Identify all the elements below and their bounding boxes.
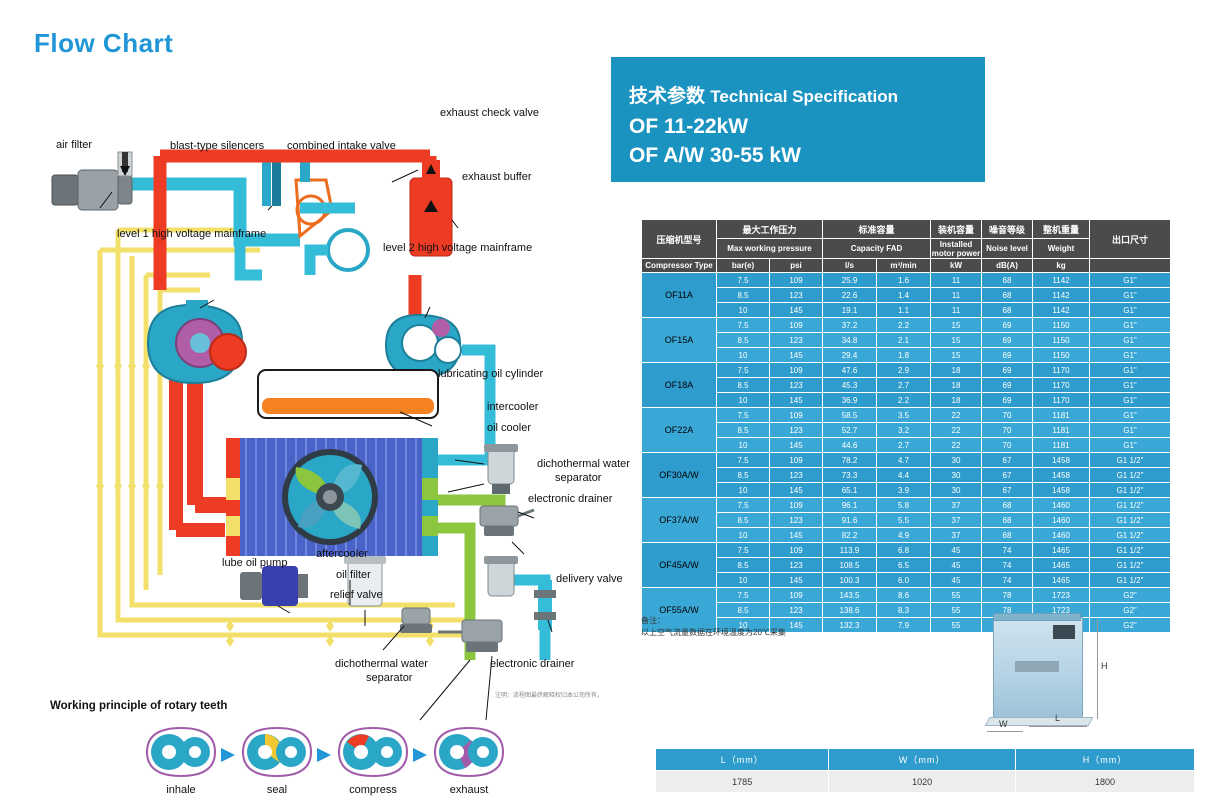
cell-value: 45.3 <box>823 378 877 393</box>
dim-w-line <box>987 731 1023 732</box>
cell-value: 7.5 <box>717 318 770 333</box>
intake-branch <box>240 242 262 275</box>
dimension-table: L（mm） W（mm） H（mm） 1785 1020 1800 <box>655 748 1195 793</box>
cell-value: 73.3 <box>823 468 877 483</box>
header-model-cn: 压缩机型号 <box>642 220 717 259</box>
cell-value: 2.7 <box>877 378 931 393</box>
cell-value: 11 <box>931 303 982 318</box>
cell-value: 145 <box>770 573 823 588</box>
cell-value: 1.4 <box>877 288 931 303</box>
cell-value: 2.1 <box>877 333 931 348</box>
cell-value: 68 <box>982 288 1033 303</box>
cell-value: 15 <box>931 333 982 348</box>
cell-value: 1170 <box>1033 363 1090 378</box>
cell-value: 132.3 <box>823 618 877 633</box>
label-level-2-mainframe: level 2 high voltage mainframe <box>383 242 532 254</box>
cell-value: 1458 <box>1033 483 1090 498</box>
rotary-label-inhale: inhale <box>145 784 217 796</box>
level-1-mainframe <box>148 300 246 383</box>
unit-outlet <box>1090 259 1171 273</box>
cell-value: 69 <box>982 318 1033 333</box>
cell-value: 55 <box>931 618 982 633</box>
cell-value: 123 <box>770 288 823 303</box>
cell-value: 11 <box>931 273 982 288</box>
cell-value: 25.9 <box>823 273 877 288</box>
cell-value: 3.2 <box>877 423 931 438</box>
relief-valve-unit <box>400 608 432 633</box>
cell-value: 1150 <box>1033 333 1090 348</box>
cell-value: G1" <box>1090 303 1171 318</box>
dimension-table-body: 1785 1020 1800 <box>656 771 1195 793</box>
cell-value: 145 <box>770 483 823 498</box>
page-title: Flow Chart <box>34 28 173 59</box>
dim-value-l: 1785 <box>656 771 829 793</box>
table-row: OF11A7.510925.91.611681142G1" <box>642 273 1171 288</box>
cell-model: OF30A/W <box>642 453 717 498</box>
air-filter-unit <box>52 152 132 210</box>
cell-value: 138.6 <box>823 603 877 618</box>
label-relief-valve: relief valve <box>330 589 383 601</box>
unit-kw: kW <box>931 259 982 273</box>
cell-value: 7.5 <box>717 453 770 468</box>
cell-value: 2.2 <box>877 318 931 333</box>
dim-header-h: H（mm） <box>1015 749 1194 771</box>
cell-value: 7.5 <box>717 498 770 513</box>
cell-value: 15 <box>931 318 982 333</box>
cell-value: G1 1/2" <box>1090 468 1171 483</box>
cell-value: 65.1 <box>823 483 877 498</box>
cell-value: 7.5 <box>717 543 770 558</box>
cell-value: 1170 <box>1033 378 1090 393</box>
rotary-label-seal: seal <box>241 784 313 796</box>
table-row: 1014529.41.815691150G1" <box>642 348 1171 363</box>
label-oil-cooler: oil cooler <box>487 422 531 434</box>
cell-value: 1723 <box>1033 588 1090 603</box>
specification-table-head: 压缩机型号 最大工作压力 标准容量 装机容量 噪音等级 整机重量 出口尺寸 Ma… <box>642 220 1171 273</box>
cell-value: 1465 <box>1033 573 1090 588</box>
cell-value: 7.5 <box>717 588 770 603</box>
table-row: OF22A7.510958.53.522701181G1" <box>642 408 1171 423</box>
cell-value: 8.5 <box>717 288 770 303</box>
dichothermal-water-separator-2-unit <box>484 556 518 596</box>
cell-value: 123 <box>770 558 823 573</box>
label-dichothermal-water-separator-1-line2: separator <box>555 472 601 484</box>
cell-value: 1465 <box>1033 543 1090 558</box>
cell-value: 70 <box>982 408 1033 423</box>
cell-value: 7.5 <box>717 408 770 423</box>
cell-value: 36.9 <box>823 393 877 408</box>
table-row: 8.512373.34.430671458G1 1/2" <box>642 468 1171 483</box>
header-pressure-en: Max working pressure <box>717 239 823 259</box>
cell-value: 74 <box>982 573 1033 588</box>
electronic-drainer-1-unit <box>480 506 534 536</box>
cell-value: G1 1/2" <box>1090 573 1171 588</box>
table-row: OF30A/W7.510978.24.730671458G1 1/2" <box>642 453 1171 468</box>
combined-intake-valve-unit <box>292 160 368 275</box>
label-delivery-valve: delivery valve <box>556 573 623 585</box>
cell-value: 109 <box>770 273 823 288</box>
cell-value: 67 <box>982 468 1033 483</box>
cell-value: 123 <box>770 423 823 438</box>
cell-value: 1150 <box>1033 318 1090 333</box>
cell-value: 1460 <box>1033 513 1090 528</box>
spec-header-block: 技术参数 Technical Specification OF 11-22kW … <box>611 57 985 182</box>
table-row: 8.5123108.56.545741465G1 1/2" <box>642 558 1171 573</box>
dim-header-l: L（mm） <box>656 749 829 771</box>
cell-value: 67 <box>982 453 1033 468</box>
dim-h-line <box>1097 619 1098 719</box>
working-principle-title: Working principle of rotary teeth <box>50 700 227 712</box>
cell-value: 100.3 <box>823 573 877 588</box>
cell-value: 18 <box>931 378 982 393</box>
cell-value: 45 <box>931 558 982 573</box>
cell-value: 68 <box>982 303 1033 318</box>
cell-value: 30 <box>931 468 982 483</box>
header-pressure-cn: 最大工作压力 <box>717 220 823 239</box>
cell-model: OF45A/W <box>642 543 717 588</box>
cell-value: 96.1 <box>823 498 877 513</box>
cell-value: 55 <box>931 603 982 618</box>
specification-table-body: OF11A7.510925.91.611681142G1"8.512322.61… <box>642 273 1171 633</box>
cell-value: 4.9 <box>877 528 931 543</box>
machine-illustration: H W L <box>985 613 1110 736</box>
header-noise-cn: 噪音等级 <box>982 220 1033 239</box>
cell-value: 58.5 <box>823 408 877 423</box>
label-oil-filter: oil filter <box>336 569 371 581</box>
cell-value: 69 <box>982 363 1033 378</box>
cell-value: 5.5 <box>877 513 931 528</box>
cell-model: OF18A <box>642 363 717 408</box>
cell-value: 44.6 <box>823 438 877 453</box>
cell-value: 10 <box>717 438 770 453</box>
cell-value: 10 <box>717 393 770 408</box>
spec-header-line2: OF 11-22kW <box>629 115 967 139</box>
cell-value: 2.2 <box>877 393 931 408</box>
cell-value: G1 1/2" <box>1090 513 1171 528</box>
cell-value: 55 <box>931 588 982 603</box>
cell-value: 68 <box>982 498 1033 513</box>
cell-value: 37 <box>931 513 982 528</box>
table-row: OF15A7.510937.22.215691150G1" <box>642 318 1171 333</box>
cell-value: 69 <box>982 393 1033 408</box>
label-level-1-mainframe: level 1 high voltage mainframe <box>117 228 266 240</box>
cell-value: 10 <box>717 573 770 588</box>
cell-value: 109 <box>770 453 823 468</box>
cell-value: 18 <box>931 393 982 408</box>
header-capacity-cn: 标准容量 <box>823 220 931 239</box>
flow-diagram: air filter blast-type silencers combined… <box>0 60 611 740</box>
cell-value: 6.8 <box>877 543 931 558</box>
unit-psi: psi <box>770 259 823 273</box>
label-blast-type-silencers: blast-type silencers <box>170 140 264 152</box>
cell-value: 22 <box>931 438 982 453</box>
cell-value: 22 <box>931 408 982 423</box>
cell-value: 37.2 <box>823 318 877 333</box>
table-row: 8.512322.61.411681142G1" <box>642 288 1171 303</box>
cell-value: 18 <box>931 363 982 378</box>
cell-value: 1170 <box>1033 393 1090 408</box>
cell-value: 70 <box>982 423 1033 438</box>
table-row: 8.512391.65.537681460G1 1/2" <box>642 513 1171 528</box>
cell-value: G1 1/2" <box>1090 483 1171 498</box>
cell-model: OF22A <box>642 408 717 453</box>
dichothermal-water-separator-1-unit <box>484 444 518 494</box>
cell-value: 1.6 <box>877 273 931 288</box>
cell-value: 37 <box>931 498 982 513</box>
cell-value: 67 <box>982 483 1033 498</box>
cell-value: 22.6 <box>823 288 877 303</box>
cell-value: 109 <box>770 363 823 378</box>
cell-value: 109 <box>770 543 823 558</box>
dimension-table-head: L（mm） W（mm） H（mm） <box>656 749 1195 771</box>
header-model-en: Compressor Type <box>642 259 717 273</box>
table-row: 1014536.92.218691170G1" <box>642 393 1171 408</box>
cell-value: 1458 <box>1033 468 1090 483</box>
cell-value: 91.6 <box>823 513 877 528</box>
cell-value: 113.9 <box>823 543 877 558</box>
cell-value: G1" <box>1090 438 1171 453</box>
cell-value: 145 <box>770 528 823 543</box>
cell-value: G1 1/2" <box>1090 498 1171 513</box>
dim-w-label: W <box>999 719 1008 729</box>
cell-value: 34.8 <box>823 333 877 348</box>
cell-value: 145 <box>770 393 823 408</box>
header-capacity-en: Capacity FAD <box>823 239 931 259</box>
cell-value: 8.5 <box>717 513 770 528</box>
label-exhaust-buffer: exhaust buffer <box>462 171 532 183</box>
cell-value: 8.5 <box>717 468 770 483</box>
cell-value: 123 <box>770 468 823 483</box>
cell-value: 1.8 <box>877 348 931 363</box>
specification-table: 压缩机型号 最大工作压力 标准容量 装机容量 噪音等级 整机重量 出口尺寸 Ma… <box>641 219 1171 633</box>
machine-top <box>993 613 1081 621</box>
cell-value: G1" <box>1090 363 1171 378</box>
dim-header-w: W（mm） <box>829 749 1016 771</box>
rotary-stage-arrows <box>145 726 515 778</box>
cell-value: 19.1 <box>823 303 877 318</box>
header-power-cn: 装机容量 <box>931 220 982 239</box>
cell-value: 15 <box>931 348 982 363</box>
cell-value: 69 <box>982 333 1033 348</box>
cell-value: 108.5 <box>823 558 877 573</box>
cell-value: 74 <box>982 558 1033 573</box>
cell-value: 2.9 <box>877 363 931 378</box>
cell-value: 10 <box>717 483 770 498</box>
cell-value: 109 <box>770 498 823 513</box>
cell-value: 1460 <box>1033 528 1090 543</box>
cell-value: 1465 <box>1033 558 1090 573</box>
cell-value: G1" <box>1090 288 1171 303</box>
cell-value: 143.5 <box>823 588 877 603</box>
cell-value: G1" <box>1090 318 1171 333</box>
table-row: 8.512345.32.718691170G1" <box>642 378 1171 393</box>
label-dichothermal-water-separator-2-line2: separator <box>366 672 412 684</box>
table-row: 1014565.13.930671458G1 1/2" <box>642 483 1171 498</box>
cell-value: 1458 <box>1033 453 1090 468</box>
cell-value: 1142 <box>1033 303 1090 318</box>
rotary-label-exhaust: exhaust <box>433 784 505 796</box>
label-electronic-drainer-1: electronic drainer <box>528 493 612 505</box>
dim-value-w: 1020 <box>829 771 1016 793</box>
cell-value: 5.8 <box>877 498 931 513</box>
cell-value: G2" <box>1090 588 1171 603</box>
cell-value: 70 <box>982 438 1033 453</box>
cell-value: 68 <box>982 528 1033 543</box>
cell-value: G1" <box>1090 393 1171 408</box>
unit-ls: l/s <box>823 259 877 273</box>
cooler-block <box>226 438 438 556</box>
unit-kg: kg <box>1033 259 1090 273</box>
table-row: 1014582.24.937681460G1 1/2" <box>642 528 1171 543</box>
machine-logo <box>1015 661 1059 672</box>
cell-value: G1" <box>1090 423 1171 438</box>
cell-value: G1" <box>1090 348 1171 363</box>
cell-value: 10 <box>717 303 770 318</box>
table-row: OF37A/W7.510996.15.837681460G1 1/2" <box>642 498 1171 513</box>
cell-value: 8.5 <box>717 558 770 573</box>
cell-value: 30 <box>931 453 982 468</box>
header-weight-en: Weight <box>1033 239 1090 259</box>
page-root: Flow Chart <box>0 0 1211 806</box>
label-dichothermal-water-separator-2-line1: dichothermal water <box>335 658 428 670</box>
cell-value: 68 <box>982 513 1033 528</box>
label-dichothermal-water-separator-1-line1: dichothermal water <box>537 458 630 470</box>
cell-value: 8.3 <box>877 603 931 618</box>
dim-h-label: H <box>1101 661 1108 671</box>
header-row-cn: 压缩机型号 最大工作压力 标准容量 装机容量 噪音等级 整机重量 出口尺寸 <box>642 220 1171 239</box>
cell-value: 11 <box>931 288 982 303</box>
cell-value: 3.9 <box>877 483 931 498</box>
exhaust-check-valve-unit <box>422 160 440 180</box>
unit-m3: m³/min <box>877 259 931 273</box>
cell-value: 123 <box>770 333 823 348</box>
cell-value: G1" <box>1090 378 1171 393</box>
unit-db: dB(A) <box>982 259 1033 273</box>
spec-header-line3: OF A/W 30-55 kW <box>629 144 967 168</box>
cell-value: 68 <box>982 273 1033 288</box>
cell-value: 145 <box>770 438 823 453</box>
cell-value: G1 1/2" <box>1090 528 1171 543</box>
cell-value: G1 1/2" <box>1090 558 1171 573</box>
disclaimer-note: 注明：流程图最终解释权归本公司所有。 <box>495 690 603 699</box>
cell-value: 29.4 <box>823 348 877 363</box>
cell-value: 69 <box>982 348 1033 363</box>
cell-value: 7.9 <box>877 618 931 633</box>
cell-value: 4.4 <box>877 468 931 483</box>
label-air-filter: air filter <box>56 139 92 151</box>
spec-header-line1-en: Technical Specification <box>710 87 898 106</box>
cell-value: 1.1 <box>877 303 931 318</box>
header-weight-cn: 整机重量 <box>1033 220 1090 239</box>
cell-value: 1150 <box>1033 348 1090 363</box>
table-note-line: 备注： <box>641 615 786 627</box>
dim-value-h: 1800 <box>1015 771 1194 793</box>
cell-value: 22 <box>931 423 982 438</box>
cell-value: 145 <box>770 348 823 363</box>
cell-value: 6.5 <box>877 558 931 573</box>
cell-value: 45 <box>931 543 982 558</box>
cell-value: 69 <box>982 378 1033 393</box>
cell-value: G1 1/2" <box>1090 543 1171 558</box>
flow-diagram-svg <box>0 60 611 740</box>
unit-bar: bar(e) <box>717 259 770 273</box>
cell-model: OF37A/W <box>642 498 717 543</box>
cell-value: 45 <box>931 573 982 588</box>
cell-value: G1" <box>1090 333 1171 348</box>
label-combined-intake-valve: combined intake valve <box>287 140 396 152</box>
cell-value: 109 <box>770 318 823 333</box>
label-electronic-drainer-2: electronic drainer <box>490 658 574 670</box>
cell-value: 8.5 <box>717 333 770 348</box>
cell-value: 10 <box>717 348 770 363</box>
dim-l-label: L <box>1055 713 1060 723</box>
label-lubricating-oil-cylinder: lubricating oil cylinder <box>438 368 543 380</box>
cell-model: OF11A <box>642 273 717 318</box>
cell-value: 6.0 <box>877 573 931 588</box>
cell-value: 52.7 <box>823 423 877 438</box>
cell-value: 109 <box>770 588 823 603</box>
spec-header-line1: 技术参数 Technical Specification <box>629 81 967 108</box>
cell-value: 78 <box>982 588 1033 603</box>
table-row: OF45A/W7.5109113.96.845741465G1 1/2" <box>642 543 1171 558</box>
cell-value: 3.5 <box>877 408 931 423</box>
table-row: OF55A/W7.5109143.58.655781723G2" <box>642 588 1171 603</box>
table-row: 10145100.36.045741465G1 1/2" <box>642 573 1171 588</box>
cell-value: 145 <box>770 303 823 318</box>
dimension-value-row: 1785 1020 1800 <box>656 771 1195 793</box>
cell-value: 7.5 <box>717 363 770 378</box>
header-outlet-cn: 出口尺寸 <box>1090 220 1171 259</box>
delivery-valve-unit <box>534 580 556 630</box>
cell-value: 1181 <box>1033 423 1090 438</box>
cell-model: OF15A <box>642 318 717 363</box>
cell-value: 109 <box>770 408 823 423</box>
cell-value: G1" <box>1090 273 1171 288</box>
cell-value: 30 <box>931 483 982 498</box>
cell-value: 1181 <box>1033 408 1090 423</box>
cell-value: 1142 <box>1033 273 1090 288</box>
table-row: 8.512352.73.222701181G1" <box>642 423 1171 438</box>
table-row: OF18A7.510947.62.918691170G1" <box>642 363 1171 378</box>
header-row-units: Compressor Type bar(e) psi l/s m³/min kW… <box>642 259 1171 273</box>
cell-value: 10 <box>717 528 770 543</box>
cell-value: 82.2 <box>823 528 877 543</box>
table-row: 8.512334.82.115691150G1" <box>642 333 1171 348</box>
cell-value: 74 <box>982 543 1033 558</box>
cell-value: 8.6 <box>877 588 931 603</box>
label-aftercooler: aftercooler <box>316 548 368 560</box>
cell-value: 4.7 <box>877 453 931 468</box>
spec-header-line1-cn: 技术参数 <box>629 86 705 107</box>
table-note-line: 以上空气流量数据在环境温度为20℃采集 <box>641 627 786 639</box>
header-power-en: Installed motor power <box>931 239 982 259</box>
cell-value: 123 <box>770 378 823 393</box>
table-row: 1014519.11.111681142G1" <box>642 303 1171 318</box>
cell-value: 1142 <box>1033 288 1090 303</box>
machine-control-panel <box>1053 625 1075 639</box>
table-note: 备注：以上空气流量数据在环境温度为20℃采集 <box>641 615 786 638</box>
lube-oil-pump-unit <box>240 566 308 606</box>
label-intercooler: intercooler <box>487 401 538 413</box>
cell-value: 7.5 <box>717 273 770 288</box>
cell-value: 1181 <box>1033 438 1090 453</box>
dim-l-line <box>1029 726 1087 727</box>
label-exhaust-check-valve: exhaust check valve <box>440 107 539 119</box>
cell-value: 78.2 <box>823 453 877 468</box>
dimension-header-row: L（mm） W（mm） H（mm） <box>656 749 1195 771</box>
blast-type-silencer <box>262 156 281 206</box>
cell-value: 2.7 <box>877 438 931 453</box>
